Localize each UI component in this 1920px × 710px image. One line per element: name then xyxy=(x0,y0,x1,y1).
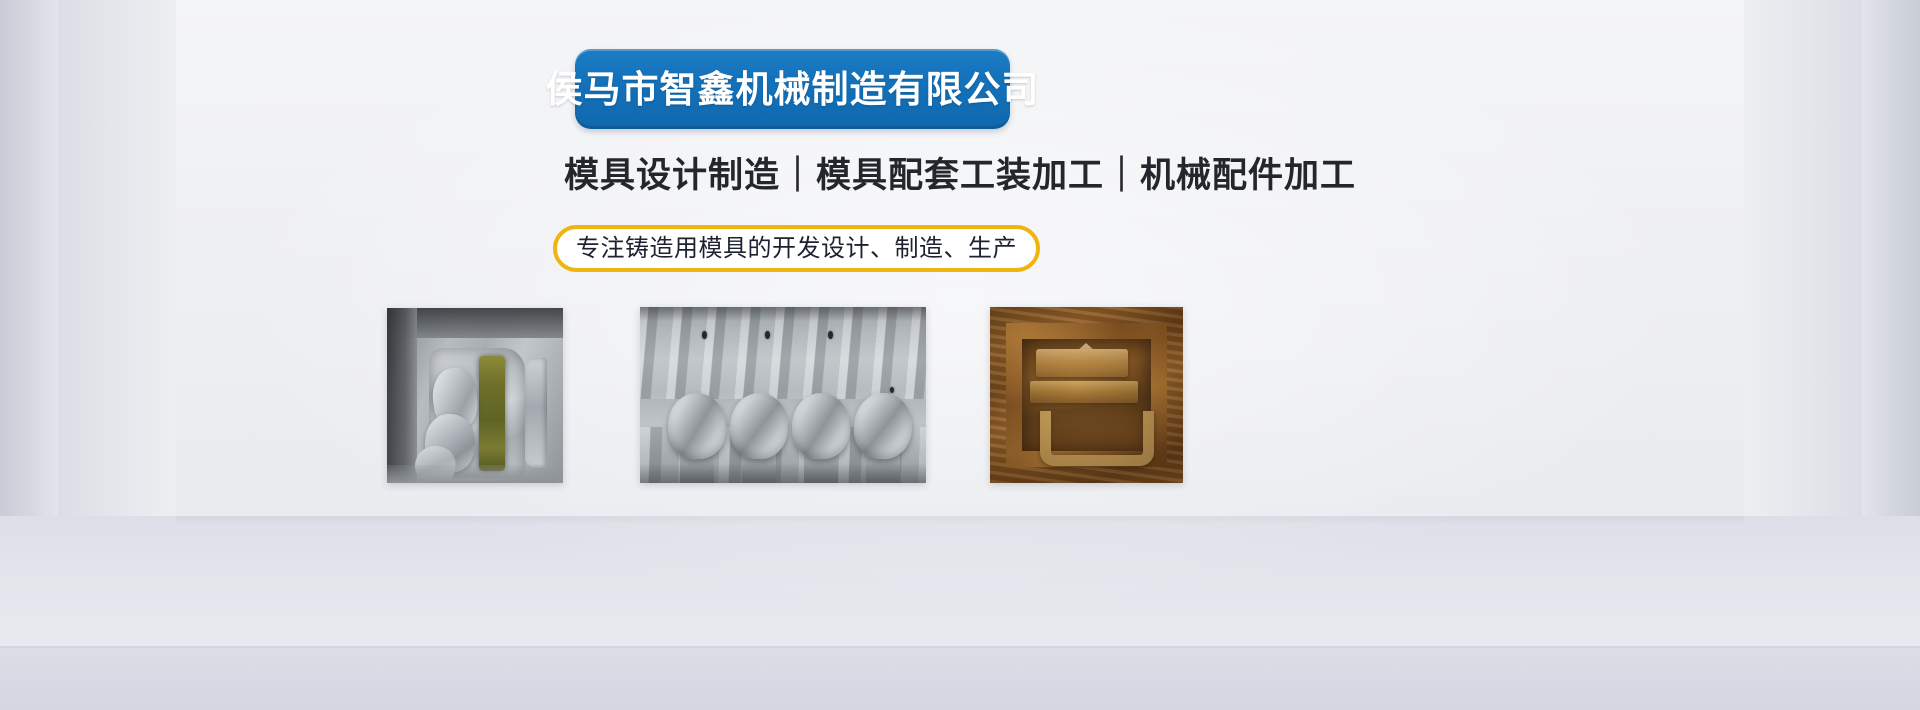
aluminium-die-cavity-photo xyxy=(387,308,563,483)
company-title: 侯马市智鑫机械制造有限公司 xyxy=(546,71,1040,108)
mould-vent-hole xyxy=(702,331,707,339)
die-bottom-edge xyxy=(387,465,563,483)
die-left-shadow xyxy=(387,308,417,483)
services-line: 模具设计制造｜模具配套工装加工｜机械配件加工 xyxy=(0,156,1920,196)
tagline-text: 专注铸造用模具的开发设计、制造、生产 xyxy=(576,237,1017,261)
wooden-pattern-image xyxy=(990,307,1183,483)
aluminium-die-cavity-image xyxy=(387,308,563,483)
mould-vent-hole xyxy=(828,331,833,339)
mould-top-shadow xyxy=(640,307,926,321)
wood-shading xyxy=(990,307,1183,483)
die-right-rib xyxy=(525,358,547,468)
banner-content: 侯马市智鑫机械制造有限公司 模具设计制造｜模具配套工装加工｜机械配件加工 专注铸… xyxy=(0,0,1920,710)
steel-mould-crank-lobes-photo xyxy=(640,307,926,483)
die-green-insert xyxy=(479,356,505,471)
company-title-box: 侯马市智鑫机械制造有限公司 xyxy=(575,49,1010,129)
banner-stage: 侯马市智鑫机械制造有限公司 模具设计制造｜模具配套工装加工｜机械配件加工 专注铸… xyxy=(0,0,1920,710)
wooden-casting-pattern-photo xyxy=(990,307,1183,483)
tagline-box: 专注铸造用模具的开发设计、制造、生产 xyxy=(553,225,1040,272)
steel-mould-image xyxy=(640,307,926,483)
mould-crank-lobe xyxy=(729,392,789,460)
mould-bottom-shadow xyxy=(640,463,926,483)
mould-vent-hole xyxy=(890,387,894,393)
mould-vent-hole xyxy=(765,331,770,339)
